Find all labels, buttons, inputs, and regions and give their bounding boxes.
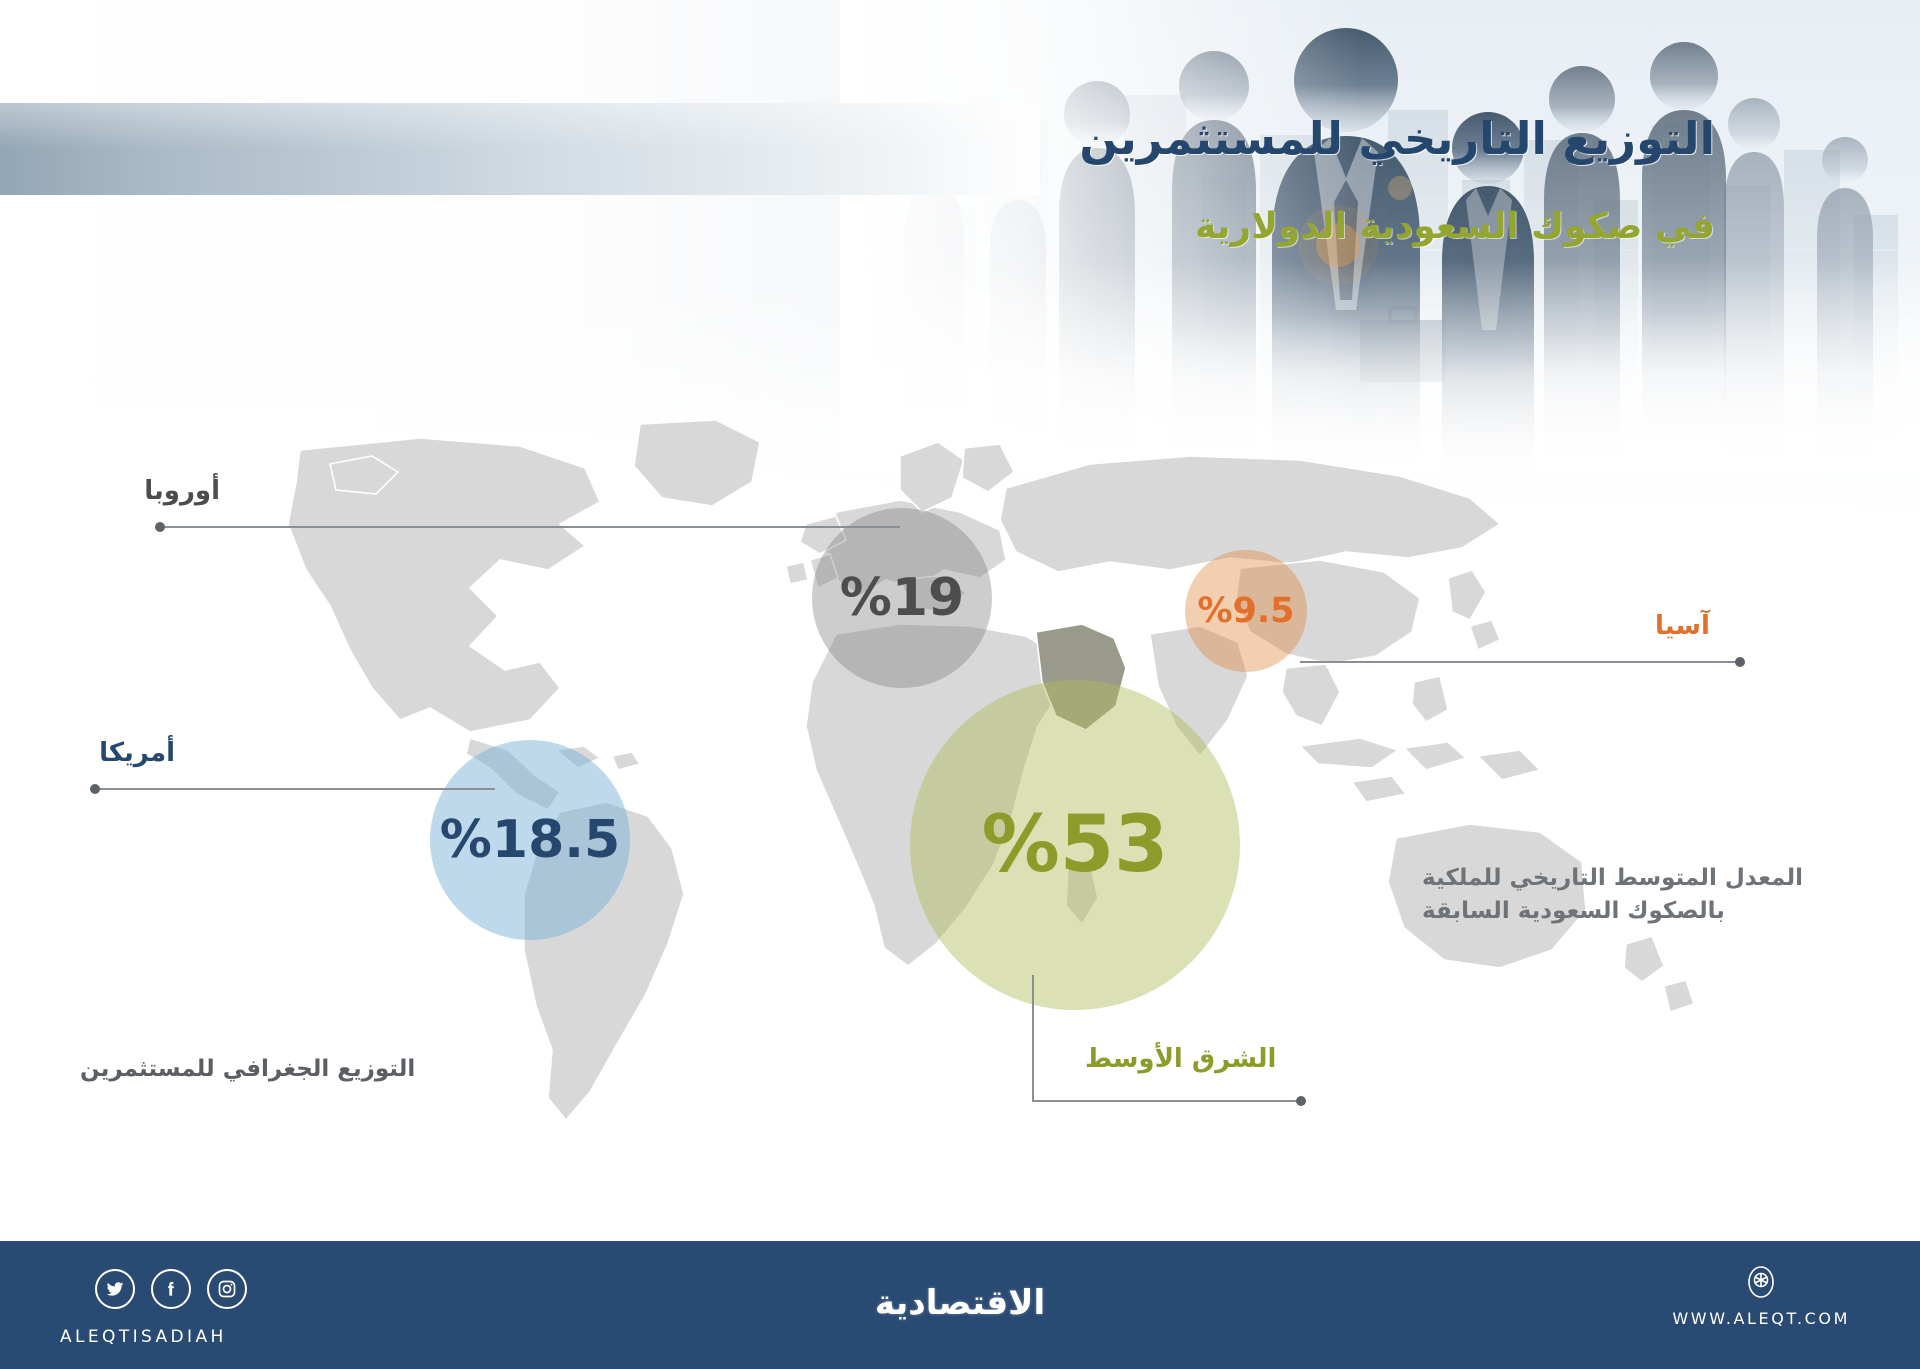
page-subtitle: في صكوك السعودية الدولارية — [1195, 205, 1715, 248]
connector-line-asia — [1300, 661, 1740, 663]
connector-line-america — [95, 788, 495, 790]
bubble-middle-east[interactable]: %53 — [910, 680, 1240, 1010]
publisher-logo-arabic: الاقتصادية — [875, 1283, 1045, 1323]
bubble-europe-value: %19 — [840, 572, 964, 624]
label-europe: أوروبا — [144, 478, 220, 504]
bubble-middle-east-value: %53 — [982, 806, 1169, 884]
note-line-1: المعدل المتوسط التاريخي للملكية — [1422, 862, 1862, 895]
bubble-asia[interactable]: %9.5 — [1185, 550, 1307, 672]
facebook-icon[interactable] — [151, 1269, 191, 1309]
note-line-2: بالصكوك السعودية السابقة — [1422, 895, 1862, 928]
connector-dot-asia — [1735, 657, 1745, 667]
bubble-europe[interactable]: %19 — [812, 508, 992, 688]
connector-dot-america — [90, 784, 100, 794]
connector-line-middle-east-vertical — [1032, 975, 1034, 1102]
connector-dot-europe — [155, 522, 165, 532]
note-historical-average: المعدل المتوسط التاريخي للملكية بالصكوك … — [1422, 862, 1862, 929]
brand-latin-name: ALEQTISADIAH — [60, 1327, 227, 1347]
footer-website[interactable]: WWW.ALEQT.COM — [1672, 1265, 1850, 1328]
label-america: أمريكا — [99, 740, 175, 766]
infographic-root: التوزيع التاريخي للمستثمرين في صكوك السع… — [0, 0, 1920, 1369]
site-url-text: WWW.ALEQT.COM — [1672, 1309, 1850, 1328]
globe-icon — [1744, 1265, 1778, 1299]
connector-line-middle-east — [1032, 1100, 1302, 1102]
connector-line-europe — [160, 526, 900, 528]
band-sheen — [0, 103, 1040, 149]
label-asia: آسيا — [1655, 613, 1710, 639]
footer-bar: ALEQTISADIAH الاقتصادية WWW.ALEQT.COM — [0, 1241, 1920, 1369]
bubble-america-value: %18.5 — [440, 814, 620, 866]
connector-dot-middle-east — [1296, 1096, 1306, 1106]
note-geographic-distribution: التوزيع الجغرافي للمستثمرين — [80, 1056, 415, 1082]
bubble-america[interactable]: %18.5 — [430, 740, 630, 940]
bubble-asia-value: %9.5 — [1197, 594, 1294, 629]
social-links — [95, 1269, 247, 1309]
twitter-icon[interactable] — [95, 1269, 135, 1309]
title-band — [0, 103, 1040, 195]
page-title: التوزيع التاريخي للمستثمرين — [1079, 112, 1715, 166]
label-middle-east: الشرق الأوسط — [1085, 1046, 1276, 1072]
instagram-icon[interactable] — [207, 1269, 247, 1309]
